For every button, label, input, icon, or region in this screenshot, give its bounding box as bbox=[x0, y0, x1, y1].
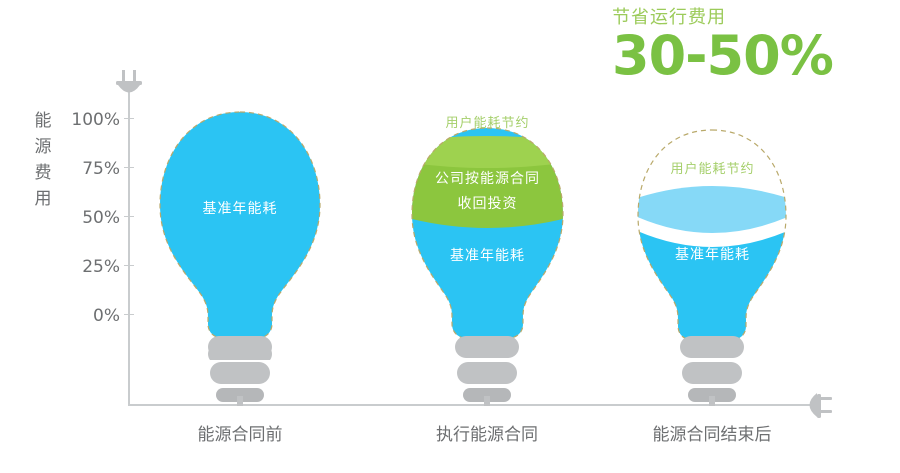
tick-dash bbox=[124, 118, 134, 119]
y-tick-75: 75% bbox=[58, 159, 120, 179]
y-tick-label: 50% bbox=[82, 208, 120, 228]
y-tick-label: 100% bbox=[71, 110, 120, 130]
plug-icon bbox=[113, 70, 145, 100]
tick-dash bbox=[124, 265, 134, 266]
y-axis-title: 能源费用 bbox=[30, 108, 56, 212]
x-label-before: 能源合同前 bbox=[130, 420, 350, 445]
bulb-base-3 bbox=[620, 336, 805, 406]
y-tick-100: 100% bbox=[58, 110, 120, 130]
tick-dash bbox=[124, 216, 134, 217]
bulb-fill-blue bbox=[140, 100, 340, 360]
bulb-base-2 bbox=[395, 336, 580, 406]
x-label-after: 能源合同结束后 bbox=[602, 420, 822, 445]
headline-block: 节省运行费用 30-50% bbox=[612, 6, 892, 84]
headline-value: 30-50% bbox=[612, 28, 892, 84]
y-tick-25: 25% bbox=[58, 257, 120, 277]
y-tick-label: 75% bbox=[82, 159, 120, 179]
bulb-before-contract: 基准年能耗 bbox=[140, 100, 340, 360]
infographic-canvas: 节省运行费用 30-50% 能源费用 100% 75% 50% bbox=[0, 0, 900, 473]
y-axis-line bbox=[128, 84, 130, 406]
bulb-after-contract: 用户能耗节约 基准年能耗 bbox=[620, 122, 805, 362]
tick-dash bbox=[124, 314, 134, 315]
x-label-during: 执行能源合同 bbox=[377, 420, 597, 445]
bulb-during-contract: 用户能耗节约 公司按能源合同 收回投资 基准年能耗 bbox=[395, 118, 580, 358]
y-tick-0: 0% bbox=[58, 306, 120, 326]
y-tick-label: 25% bbox=[82, 257, 120, 277]
tick-dash bbox=[124, 167, 134, 168]
y-tick-50: 50% bbox=[58, 208, 120, 228]
plug-icon bbox=[802, 390, 832, 422]
y-tick-label: 0% bbox=[93, 306, 120, 326]
bulb-base-1 bbox=[140, 336, 340, 406]
